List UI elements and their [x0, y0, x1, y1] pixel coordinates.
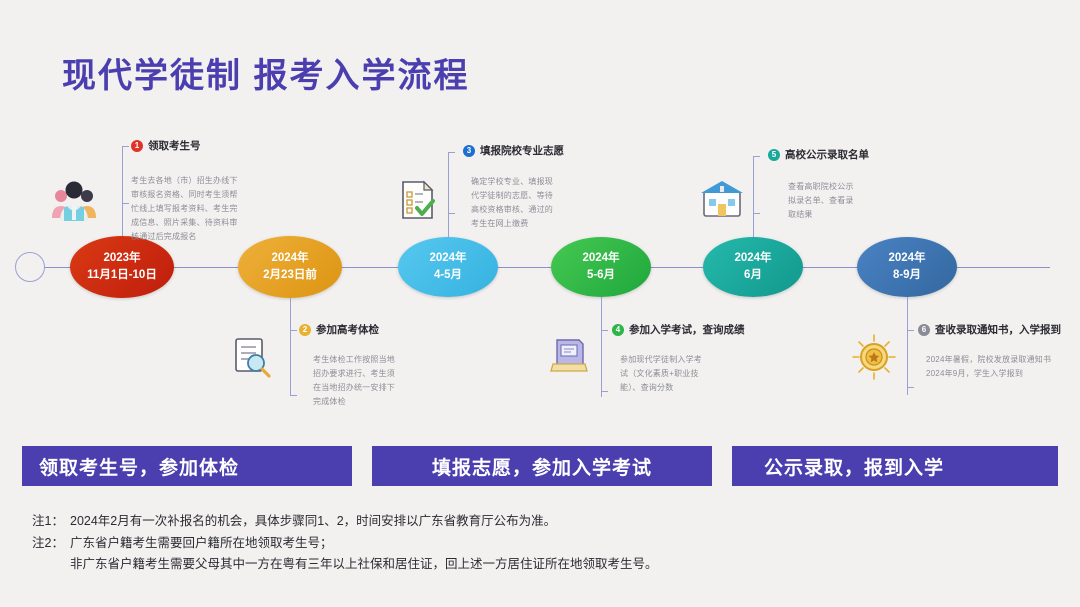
step-1-badge: 1: [131, 140, 143, 152]
note-1-text: 2024年2月有一次补报名的机会，具体步骤同1、2，时间安排以广东省教育厅公布为…: [70, 511, 556, 533]
step-2: 2 参加高考体检 考生体检工作按照当地招办要求进行、考生须在当地招办统一安排下完…: [299, 322, 395, 409]
step-2-title: 参加高考体检: [316, 322, 379, 337]
node-2-year: 2024年: [271, 250, 308, 267]
people-group-icon: [48, 174, 100, 229]
step-5-badge: 5: [768, 149, 780, 161]
node-1-year: 2023年: [103, 250, 140, 267]
step-4-title: 参加入学考试，查询成绩: [629, 322, 745, 337]
note-2-label: 注2：: [32, 533, 70, 555]
step-3-body: 确定学校专业、填报现代学徒制的志愿、等待高校资格审核、通过的考生在网上缴费: [471, 175, 553, 231]
step-1-title: 领取考生号: [148, 138, 201, 153]
step-5-body: 查看高职院校公示拟录名单、查看录取结果: [788, 180, 858, 222]
step-1-head: 1 领取考生号: [131, 138, 243, 153]
step-1-body: 考生去各地（市）招生办线下审核报名资格、同时考生须帮忙线上填写报考资料、考生完成…: [131, 174, 243, 244]
note-2-text-b: 非广东省户籍考生需要父母其中一方在粤有三年以上社保和居住证，回上述一方居住证所在…: [70, 557, 658, 571]
step-2-badge: 2: [299, 324, 311, 336]
step-4-head: 4 参加入学考试，查询成绩: [612, 322, 738, 337]
step-6-head: 6 查收录取通知书，入学报到: [918, 322, 1068, 337]
notes-block: 注1： 2024年2月有一次补报名的机会，具体步骤同1、2，时间安排以广东省教育…: [32, 511, 658, 576]
school-building-icon: [697, 176, 747, 227]
banner-phase-1[interactable]: 领取考生号，参加体检: [22, 446, 352, 486]
timeline-node-6[interactable]: 2024年 8-9月: [857, 237, 957, 297]
infographic-root: 现代学徒制 报考入学流程 2023年 11月1日-10日 2024年 2月23日…: [0, 0, 1080, 607]
step-5: 5 高校公示录取名单 查看高职院校公示拟录名单、查看录取结果: [768, 147, 878, 222]
step-5-title: 高校公示录取名单: [785, 147, 869, 162]
note-2-text-a: 广东省户籍考生需要回户籍所在地领取考生号；: [70, 533, 333, 555]
medal-icon: [851, 333, 897, 386]
node-3-year: 2024年: [429, 250, 466, 267]
checklist-icon: [396, 178, 440, 227]
timeline-node-2[interactable]: 2024年 2月23日前: [238, 236, 342, 298]
note-2-row: 注2： 广东省户籍考生需要回户籍所在地领取考生号；: [32, 533, 658, 555]
bracket-step-4: [601, 330, 602, 392]
bracket-step-5: [753, 156, 754, 214]
bracket-step-6: [907, 330, 908, 388]
step-6-body: 2024年暑假，院校发放录取通知书 2024年9月，学生入学报到: [926, 353, 1066, 381]
node-2-period: 2月23日前: [263, 267, 317, 284]
step-4: 4 参加入学考试，查询成绩 参加现代学徒制入学考试（文化素质+职业技能）、查询分…: [612, 322, 738, 395]
timeline-node-5[interactable]: 2024年 6月: [703, 237, 803, 297]
step-4-body: 参加现代学徒制入学考试（文化素质+职业技能）、查询分数: [620, 353, 704, 395]
note-1-row: 注1： 2024年2月有一次补报名的机会，具体步骤同1、2，时间安排以广东省教育…: [32, 511, 658, 533]
node-6-period: 8-9月: [893, 267, 921, 284]
step-6-badge: 6: [918, 324, 930, 336]
bracket-step-2: [290, 330, 291, 396]
step-1: 1 领取考生号 考生去各地（市）招生办线下审核报名资格、同时考生须帮忙线上填写报…: [131, 138, 243, 244]
node-5-period: 6月: [744, 267, 762, 284]
note-2-text-b-row: 非广东省户籍考生需要父母其中一方在粤有三年以上社保和居住证，回上述一方居住证所在…: [70, 554, 658, 576]
bracket-step-3: [448, 152, 449, 214]
step-6-title: 查收录取通知书，入学报到: [935, 322, 1061, 337]
step-6: 6 查收录取通知书，入学报到 2024年暑假，院校发放录取通知书 2024年9月…: [918, 322, 1068, 381]
timeline-node-4[interactable]: 2024年 5-6月: [551, 237, 651, 297]
bracket-step-1: [122, 146, 123, 204]
step-4-badge: 4: [612, 324, 624, 336]
step-5-head: 5 高校公示录取名单: [768, 147, 878, 162]
computer-book-icon: [548, 336, 592, 383]
banner-phase-2[interactable]: 填报志愿，参加入学考试: [372, 446, 712, 486]
banner-phase-3[interactable]: 公示录取，报到入学: [732, 446, 1058, 486]
node-4-year: 2024年: [582, 250, 619, 267]
node-5-year: 2024年: [734, 250, 771, 267]
node-6-year: 2024年: [888, 250, 925, 267]
node-4-period: 5-6月: [587, 267, 615, 284]
step-2-head: 2 参加高考体检: [299, 322, 395, 337]
step-3-head: 3 填报院校专业志愿: [463, 143, 567, 158]
node-3-period: 4-5月: [434, 267, 462, 284]
note-1-label: 注1：: [32, 511, 70, 533]
timeline-node-1[interactable]: 2023年 11月1日-10日: [70, 236, 174, 298]
timeline-start-circle: [15, 252, 45, 282]
document-search-icon: [228, 334, 274, 385]
timeline-node-3[interactable]: 2024年 4-5月: [398, 237, 498, 297]
node-1-period: 11月1日-10日: [87, 267, 157, 284]
step-3: 3 填报院校专业志愿 确定学校专业、填报现代学徒制的志愿、等待高校资格审核、通过…: [463, 143, 567, 231]
step-2-body: 考生体检工作按照当地招办要求进行、考生须在当地招办统一安排下完成体检: [313, 353, 395, 409]
page-title: 现代学徒制 报考入学流程: [62, 48, 469, 97]
step-3-title: 填报院校专业志愿: [480, 143, 564, 158]
step-3-badge: 3: [463, 145, 475, 157]
